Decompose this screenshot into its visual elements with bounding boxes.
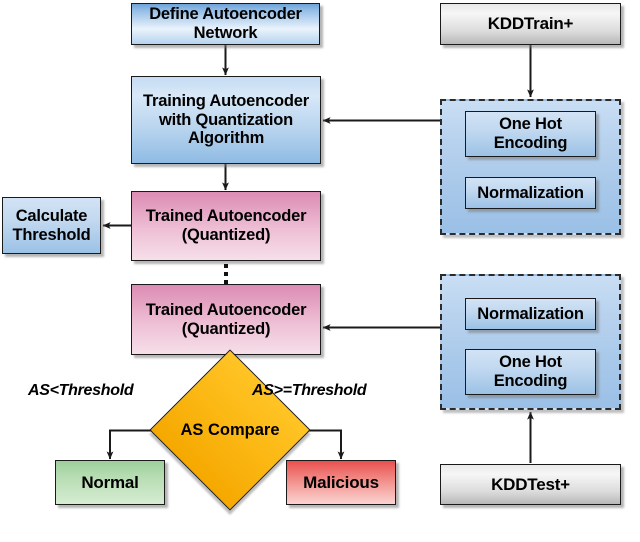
node-trained-autoencoder-1[interactable]: Trained Autoencoder (Quantized) (131, 191, 321, 261)
node-train-one-hot-encoding-label: One Hot Encoding (466, 115, 595, 153)
node-train-normalization-label: Normalization (477, 184, 584, 203)
node-train-normalization[interactable]: Normalization (465, 177, 596, 209)
node-kdd-train-label: KDDTrain+ (488, 14, 574, 33)
node-trained-autoencoder-2-label: Trained Autoencoder (Quantized) (138, 301, 314, 339)
node-define-autoencoder-network-label: Define Autoencoder Network (137, 5, 314, 43)
continuation-ellipsis (223, 264, 229, 284)
figure-caption (0, 531, 640, 542)
node-normal-label: Normal (81, 473, 138, 492)
node-test-normalization[interactable]: Normalization (465, 298, 596, 330)
edge-label-as-less-than-threshold: AS<Threshold (28, 382, 133, 400)
node-test-normalization-label: Normalization (477, 305, 584, 324)
node-kdd-train[interactable]: KDDTrain+ (440, 3, 621, 45)
node-calculate-threshold[interactable]: Calculate Threshold (2, 197, 101, 254)
node-kdd-test[interactable]: KDDTest+ (440, 464, 621, 505)
node-normal[interactable]: Normal (55, 460, 165, 505)
node-trained-autoencoder-2[interactable]: Trained Autoencoder (Quantized) (131, 284, 321, 355)
node-test-one-hot-encoding-label: One Hot Encoding (466, 353, 595, 391)
ellipsis-dot (224, 280, 228, 284)
node-test-one-hot-encoding[interactable]: One Hot Encoding (465, 349, 596, 395)
ellipsis-dot (224, 272, 228, 276)
node-trained-autoencoder-1-label: Trained Autoencoder (Quantized) (138, 207, 314, 245)
flowchart-canvas: Define Autoencoder Network Training Auto… (0, 0, 640, 542)
ellipsis-dot (224, 264, 228, 268)
node-kdd-test-label: KDDTest+ (491, 475, 570, 494)
node-define-autoencoder-network[interactable]: Define Autoencoder Network (131, 3, 320, 45)
node-train-one-hot-encoding[interactable]: One Hot Encoding (465, 111, 596, 157)
node-training-autoencoder[interactable]: Training Autoencoder with Quantization A… (131, 76, 321, 164)
node-calculate-threshold-label: Calculate Threshold (6, 207, 97, 245)
node-malicious[interactable]: Malicious (286, 460, 396, 505)
node-malicious-label: Malicious (303, 473, 379, 492)
node-training-autoencoder-label: Training Autoencoder with Quantization A… (138, 92, 314, 148)
edge-label-as-greater-equal-threshold: AS>=Threshold (252, 382, 366, 400)
